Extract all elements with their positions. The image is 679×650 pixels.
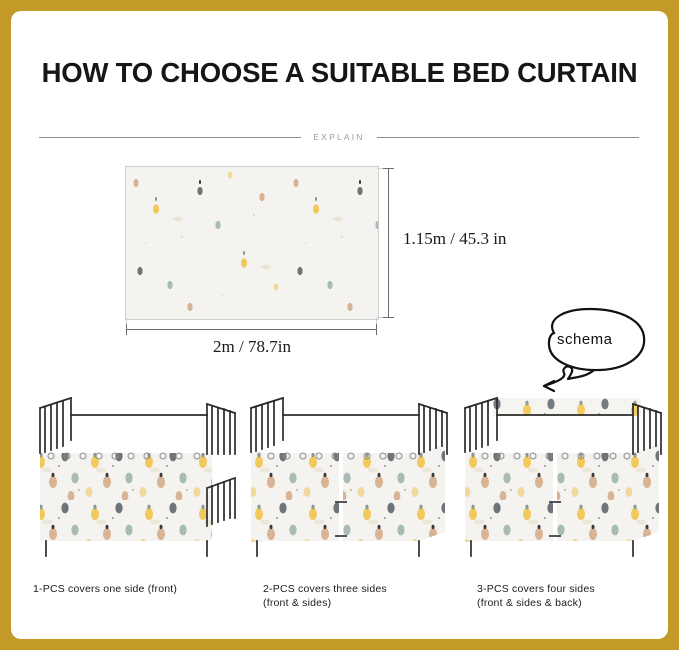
height-cap-bottom — [383, 317, 394, 318]
caption-2-pcs: 2-PCS covers three sides (front & sides) — [263, 582, 463, 610]
height-cap-top — [383, 168, 394, 169]
height-dimension-line — [388, 168, 389, 318]
caption-1-pcs: 1-PCS covers one side (front) — [33, 582, 243, 596]
schema-label: schema — [557, 331, 613, 348]
schema-ellipse-icon — [516, 307, 656, 397]
diagram-1-pcs — [31, 396, 246, 561]
height-label: 1.15m / 45.3 in — [403, 229, 506, 249]
width-label: 2m / 78.7in — [11, 337, 493, 357]
schema-callout: schema — [516, 307, 656, 397]
curtain-fabric-swatch — [125, 166, 379, 320]
width-cap-left — [126, 324, 127, 335]
diagram-3-pcs — [463, 396, 668, 561]
width-cap-right — [376, 324, 377, 335]
diagram-2-pcs — [249, 396, 464, 561]
caption-3-pcs: 3-PCS covers four sides (front & sides &… — [477, 582, 668, 610]
poster-frame: HOW TO CHOOSE A SUITABLE BED CURTAIN EXP… — [11, 11, 668, 639]
width-dimension-line — [126, 329, 377, 330]
